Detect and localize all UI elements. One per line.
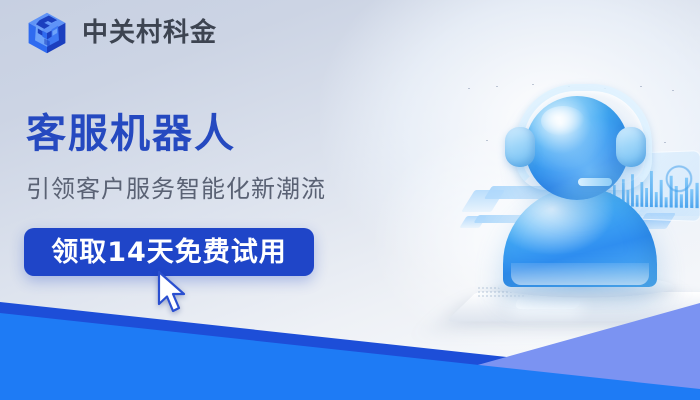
avatar-head-highlight [541, 106, 585, 136]
customer-service-avatar [470, 80, 690, 300]
equalizer-bar [695, 183, 698, 208]
headset-microphone-icon [578, 178, 612, 186]
avatar-body-dome [503, 187, 657, 287]
page-title: 客服机器人 [26, 112, 236, 156]
cta-label: 领取14天免费试用 [51, 239, 287, 266]
brand-name-text: 中关村科金 [82, 20, 217, 46]
headset-earcup-right-icon [616, 127, 646, 167]
brand-logo-lockup[interactable]: 中关村科金 [24, 10, 217, 56]
page-subtitle: 引领客户服务智能化新潮流 [26, 176, 326, 202]
headset-earcup-left-icon [505, 127, 535, 167]
equalizer-bar [690, 189, 693, 208]
avatar-head [525, 96, 629, 200]
zhongguancun-cube-logo-icon [24, 10, 70, 56]
promotional-banner: 中关村科金 客服机器人 引领客户服务智能化新潮流 领取14天免费试用 [0, 0, 700, 400]
free-trial-cta-button[interactable]: 领取14天免费试用 [24, 228, 314, 276]
mouse-pointer-arrow-icon [155, 270, 189, 316]
